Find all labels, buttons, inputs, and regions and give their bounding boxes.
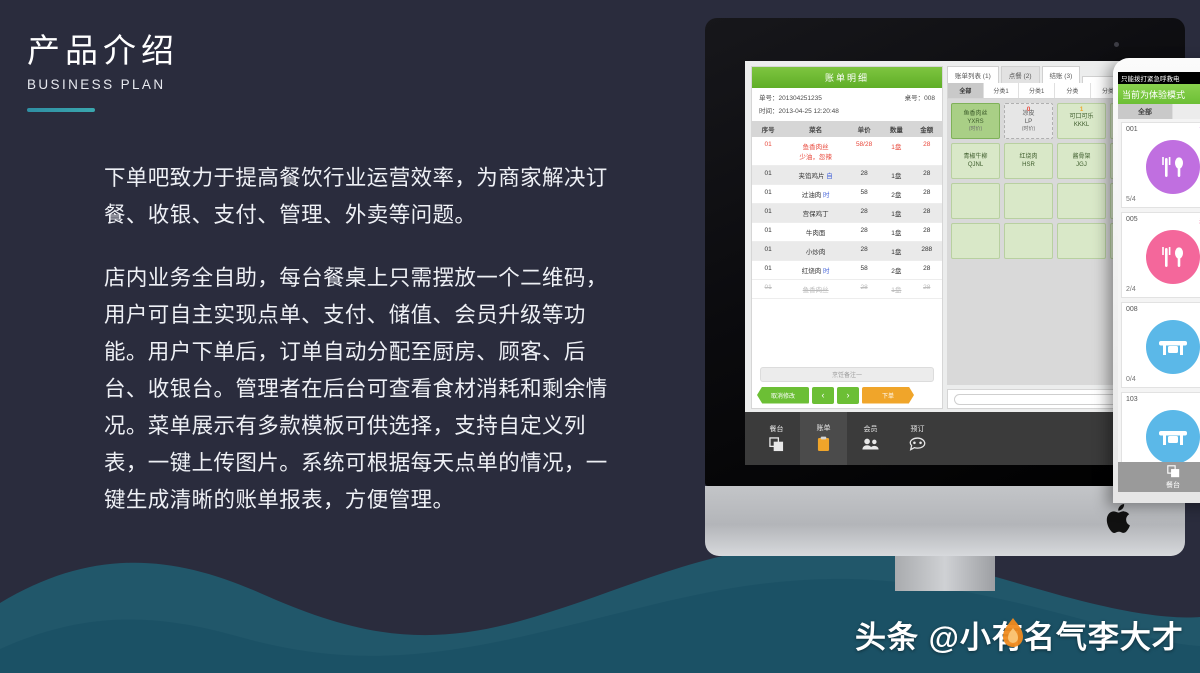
card-seats: 2/4 xyxy=(1126,286,1136,293)
table-row[interactable]: 01过油肉 时582盘28 xyxy=(752,185,942,204)
phone-nav-label: 餐台 xyxy=(1166,480,1180,490)
nav-item-餐台[interactable]: 餐台 xyxy=(753,412,800,465)
cell-price: 28 xyxy=(847,208,881,218)
bill-table-header: 序号 菜名 单价 数量 金额 xyxy=(752,121,942,137)
tile-code: YXRS xyxy=(967,118,983,126)
table-row[interactable]: 01红烧肉 时582盘28 xyxy=(752,261,942,280)
tables-icon xyxy=(1167,465,1180,478)
cell-amount: 288 xyxy=(912,246,942,256)
tile-name: 可口可乐 xyxy=(1069,113,1093,121)
slide-left-column: 产品介绍 BUSINESS PLAN 下单吧致力于提高餐饮行业运营效率，为商家解… xyxy=(0,0,700,673)
menu-tile-5[interactable]: 红烧肉HSR xyxy=(1004,143,1053,179)
tile-badge: 0 xyxy=(1027,106,1030,114)
col-qty: 数量 xyxy=(881,124,911,134)
cell-no: 01 xyxy=(752,265,784,275)
bill-detail-panel: 账单明细 单号：201304251235 桌号：008 时间：2013-04-2… xyxy=(751,66,943,409)
cell-dish: 过油肉 时 xyxy=(784,189,847,199)
cell-amount: 28 xyxy=(912,284,942,294)
tile-code: KKKL xyxy=(1074,121,1089,129)
menu-tile-4[interactable]: 青椒牛柳QJNL xyxy=(951,143,1000,179)
cell-dish: 小炒肉 xyxy=(784,246,847,256)
dish-tag: 自 xyxy=(826,173,833,180)
cell-price: 58 xyxy=(847,265,881,275)
card-seats: 0/4 xyxy=(1126,376,1136,383)
cell-amount: 28 xyxy=(912,265,942,275)
order-time: 时间：2013-04-25 12:20:48 xyxy=(759,105,839,115)
cell-amount: 28 xyxy=(912,141,942,161)
cell-qty: 1盘 xyxy=(881,208,911,218)
col-amount: 金额 xyxy=(912,124,942,134)
menu-tile-8[interactable] xyxy=(951,183,1000,219)
page-title: 产品介绍 xyxy=(27,30,179,71)
menu-tile-1[interactable]: 0凉皮LP(时价) xyxy=(1004,103,1053,139)
title-underline-rule xyxy=(27,108,95,112)
tab-2[interactable]: 结账 (3) xyxy=(1042,66,1081,83)
phone-banner: 当前为体验模式 xyxy=(1118,84,1200,104)
cell-no: 01 xyxy=(752,227,784,237)
table-icon xyxy=(1146,320,1200,374)
apple-logo-icon xyxy=(1105,504,1131,535)
cell-amount: 28 xyxy=(912,189,942,199)
cell-amount: 28 xyxy=(912,170,942,180)
menu-tile-12[interactable] xyxy=(951,223,1000,259)
paragraph-2: 店内业务全自助，每台餐桌上只需摆放一个二维码，用户可自主实现点单、支付、储值、会… xyxy=(104,260,624,519)
cell-dish: 牛肉面 xyxy=(784,227,847,237)
cell-qty: 1盘 xyxy=(881,170,911,180)
table-number: 桌号：008 xyxy=(905,92,935,102)
tile-badge: 1 xyxy=(1080,106,1083,114)
tab-0[interactable]: 账单列表 (1) xyxy=(947,66,999,83)
nav-label: 会员 xyxy=(864,424,878,434)
dish-note: 少油，忽辣 xyxy=(799,154,832,161)
phone-tab-bar: 全部 xyxy=(1118,104,1200,119)
tab-1[interactable]: 点餐 (2) xyxy=(1001,66,1040,83)
tile-sub: (时价) xyxy=(1022,126,1035,133)
col-price: 单价 xyxy=(847,124,881,134)
card-number: 008 xyxy=(1126,306,1138,316)
cell-dish: 宫保鸡丁 xyxy=(784,208,847,218)
title-block: 产品介绍 BUSINESS PLAN xyxy=(27,30,179,112)
phone-bottom-nav[interactable]: 餐台 xyxy=(1118,462,1200,492)
card-number: 005 xyxy=(1126,216,1138,226)
list-item[interactable]: 103空闲 xyxy=(1121,392,1200,471)
phone-mockup: 只能拨打紧急呼救电 当前为体验模式 全部 001已下单5/410:40005未下… xyxy=(1113,58,1200,503)
body-copy: 下单吧致力于提高餐饮行业运营效率，为商家解决订餐、收银、支付、管理、外卖等问题。… xyxy=(104,160,624,519)
cell-price: 28 xyxy=(847,170,881,180)
nav-item-账单[interactable]: 账单 xyxy=(800,412,847,465)
table-row[interactable]: 01牛肉面281盘28 xyxy=(752,223,942,242)
cell-no: 01 xyxy=(752,189,784,199)
pos-bottom-nav: 餐台账单会员预订 xyxy=(745,412,1169,465)
bill-panel-header: 账单明细 xyxy=(752,67,942,88)
monitor-stand xyxy=(895,556,995,591)
cooking-note-field[interactable]: 烹饪备注一 xyxy=(760,367,934,382)
phone-status-bar: 只能拨打紧急呼救电 xyxy=(1118,72,1200,84)
tile-sub: (时价) xyxy=(969,126,982,133)
clipboard-icon xyxy=(817,436,830,454)
tile-code: QJNL xyxy=(968,161,983,169)
table-icon xyxy=(1146,410,1200,464)
tile-name: 青椒牛柳 xyxy=(963,153,987,161)
cell-dish: 鱼香肉丝 xyxy=(784,284,847,294)
tile-code: JGJ xyxy=(1076,161,1087,169)
phone-screen: 只能拨打紧急呼救电 当前为体验模式 全部 001已下单5/410:40005未下… xyxy=(1118,72,1200,492)
prev-page-button[interactable]: ‹ xyxy=(812,387,834,404)
cell-no: 01 xyxy=(752,284,784,294)
phone-tab-0[interactable]: 全部 xyxy=(1118,104,1173,119)
table-row[interactable]: 01宫保鸡丁281盘28 xyxy=(752,204,942,223)
nav-label: 账单 xyxy=(817,423,831,433)
cutlery-icon xyxy=(1146,140,1200,194)
menu-tile-0[interactable]: 鱼香肉丝YXRS(时价) xyxy=(951,103,1000,139)
menu-tile-14[interactable] xyxy=(1057,223,1106,259)
card-number: 103 xyxy=(1126,396,1138,406)
cancel-edit-button[interactable]: 取消修改 xyxy=(757,387,809,404)
cell-no: 01 xyxy=(752,208,784,218)
category-tab-3[interactable]: 分类 xyxy=(1055,83,1091,98)
menu-tile-13[interactable] xyxy=(1004,223,1053,259)
tile-name: 鱼香肉丝 xyxy=(963,110,987,118)
cell-price: 28 xyxy=(847,246,881,256)
cell-no: 01 xyxy=(752,141,784,161)
menu-tile-10[interactable] xyxy=(1057,183,1106,219)
cell-qty: 2盘 xyxy=(881,189,911,199)
nav-item-预订[interactable]: 预订 xyxy=(894,412,941,465)
monitor-screen: 账单明细 单号：201304251235 桌号：008 时间：2013-04-2… xyxy=(745,61,1169,465)
cell-price: 28 xyxy=(847,284,881,294)
members-icon xyxy=(862,437,879,453)
menu-tile-6[interactable]: 酱骨架JGJ xyxy=(1057,143,1106,179)
nav-label: 餐台 xyxy=(770,424,784,434)
cell-qty: 1盘 xyxy=(881,284,911,294)
nav-label: 预订 xyxy=(911,424,925,434)
category-tab-1[interactable]: 分类1 xyxy=(984,83,1020,98)
dish-tag: 时 xyxy=(823,268,830,275)
pos-application: 账单明细 单号：201304251235 桌号：008 时间：2013-04-2… xyxy=(745,61,1169,465)
list-item[interactable]: 001已下单5/410:40 xyxy=(1121,122,1200,208)
phone-tab-1[interactable] xyxy=(1173,104,1200,119)
col-dish: 菜名 xyxy=(784,124,847,134)
table-row[interactable]: 01鱼香肉丝281盘28 xyxy=(752,280,942,299)
tile-name: 红烧肉 xyxy=(1019,153,1037,161)
category-tab-2[interactable]: 分类1 xyxy=(1019,83,1055,98)
order-number: 单号：201304251235 xyxy=(759,92,822,102)
paragraph-1: 下单吧致力于提高餐饮行业运营效率，为商家解决订餐、收银、支付、管理、外卖等问题。 xyxy=(104,160,624,234)
cell-price: 58/28 xyxy=(847,141,881,161)
bill-table-body: 01鱼香肉丝少油，忽辣58/281盘2801夹馅鸡片 自281盘2801过油肉 … xyxy=(752,137,942,299)
cell-no: 01 xyxy=(752,170,784,180)
cell-no: 01 xyxy=(752,246,784,256)
cell-qty: 1盘 xyxy=(881,141,911,161)
cell-qty: 2盘 xyxy=(881,265,911,275)
cell-amount: 28 xyxy=(912,208,942,218)
category-tab-0[interactable]: 全部 xyxy=(948,83,984,98)
menu-tile-9[interactable] xyxy=(1004,183,1053,219)
tile-name: 酱骨架 xyxy=(1072,153,1090,161)
cell-dish: 红烧肉 时 xyxy=(784,265,847,275)
table-row[interactable]: 01鱼香肉丝少油，忽辣58/281盘28 xyxy=(752,137,942,166)
submit-order-button[interactable]: 下单 xyxy=(862,387,914,404)
bill-action-bar: 取消修改 ‹ › 下单 xyxy=(757,386,937,404)
toutiao-flame-icon xyxy=(1000,618,1026,652)
cell-price: 28 xyxy=(847,227,881,237)
cell-qty: 1盘 xyxy=(881,227,911,237)
list-item[interactable]: 005未下单2/412:06 xyxy=(1121,212,1200,298)
bill-meta: 单号：201304251235 桌号：008 时间：2013-04-25 12:… xyxy=(752,88,942,121)
phone-icon xyxy=(909,437,926,453)
next-page-button[interactable]: › xyxy=(837,387,859,404)
cell-qty: 1盘 xyxy=(881,246,911,256)
phone-table-list: 001已下单5/410:40005未下单2/412:06008空闲0/4103空… xyxy=(1118,119,1200,478)
list-item[interactable]: 008空闲0/4 xyxy=(1121,302,1200,388)
page-subtitle: BUSINESS PLAN xyxy=(27,77,179,92)
col-no: 序号 xyxy=(752,124,784,134)
card-number: 001 xyxy=(1126,126,1138,136)
webcam-icon xyxy=(1114,42,1119,47)
card-seats: 5/4 xyxy=(1126,196,1136,203)
table-row[interactable]: 01夹馅鸡片 自281盘28 xyxy=(752,166,942,185)
cutlery-icon xyxy=(1146,230,1200,284)
tables-icon xyxy=(769,437,784,454)
cell-price: 58 xyxy=(847,189,881,199)
cell-dish: 鱼香肉丝少油，忽辣 xyxy=(784,141,847,161)
cell-dish: 夹馅鸡片 自 xyxy=(784,170,847,180)
tile-code: HSR xyxy=(1022,161,1035,169)
cell-amount: 28 xyxy=(912,227,942,237)
dish-tag: 时 xyxy=(823,192,830,199)
nav-item-会员[interactable]: 会员 xyxy=(847,412,894,465)
menu-tile-2[interactable]: 1可口可乐KKKL xyxy=(1057,103,1106,139)
tile-code: LP xyxy=(1025,118,1032,126)
table-row[interactable]: 01小炒肉281盘288 xyxy=(752,242,942,261)
